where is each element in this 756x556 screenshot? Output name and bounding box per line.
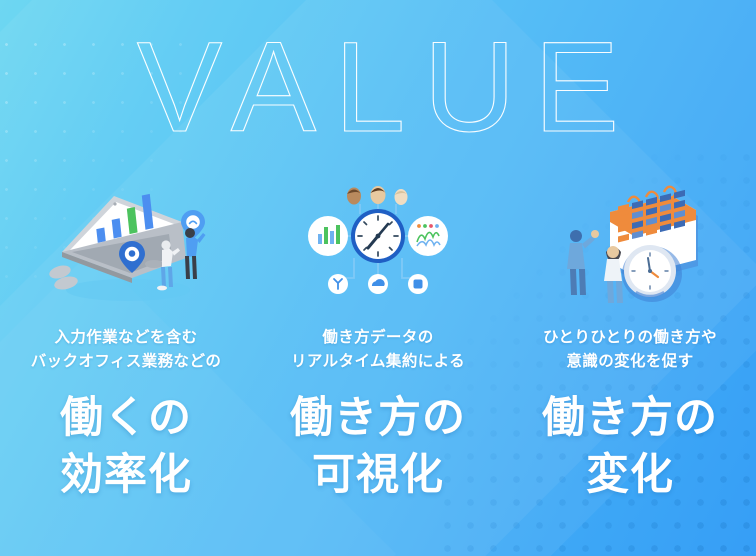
value-section: VALUE xyxy=(0,0,756,556)
value-columns: 入力作業などを含む バックオフィス業務などの 働くの 効率化 xyxy=(0,180,756,504)
card-headline: 働き方の 変化 xyxy=(542,390,718,504)
card-headline-line: 働き方の xyxy=(290,390,466,447)
card-subtitle-line: リアルタイム集約による xyxy=(291,350,465,374)
card-subtitle-line: 働き方データの xyxy=(291,326,465,350)
card-subtitle-line: バックオフィス業務などの xyxy=(31,350,222,374)
card-subtitle: 働き方データの リアルタイム集約による xyxy=(291,326,465,374)
card-subtitle: ひとりひとりの働き方や 意識の変化を促す xyxy=(543,326,717,374)
calendar-clock-people-illustration xyxy=(535,180,725,312)
card-headline-line: 可視化 xyxy=(290,447,466,504)
card-headline-line: 働くの xyxy=(60,390,192,447)
card-subtitle: 入力作業などを含む バックオフィス業務などの xyxy=(31,326,222,374)
laptop-bar-chart-people-illustration xyxy=(31,180,221,312)
section-title-container: VALUE xyxy=(0,24,756,152)
value-card-efficiency: 入力作業などを含む バックオフィス業務などの 働くの 効率化 xyxy=(0,180,252,504)
card-headline-line: 変化 xyxy=(542,447,718,504)
card-headline-line: 働き方の xyxy=(542,390,718,447)
value-card-change: ひとりひとりの働き方や 意識の変化を促す 働き方の 変化 xyxy=(504,180,756,504)
value-card-visualization: 働き方データの リアルタイム集約による 働き方の 可視化 xyxy=(252,180,504,504)
card-headline: 働き方の 可視化 xyxy=(290,390,466,504)
clock-data-network-illustration xyxy=(283,180,473,312)
card-subtitle-line: 入力作業などを含む xyxy=(31,326,222,350)
card-subtitle-line: ひとりひとりの働き方や xyxy=(543,326,717,350)
card-headline: 働くの 効率化 xyxy=(60,390,192,504)
card-headline-line: 効率化 xyxy=(60,447,192,504)
card-subtitle-line: 意識の変化を促す xyxy=(543,350,717,374)
page-title: VALUE xyxy=(119,24,637,152)
